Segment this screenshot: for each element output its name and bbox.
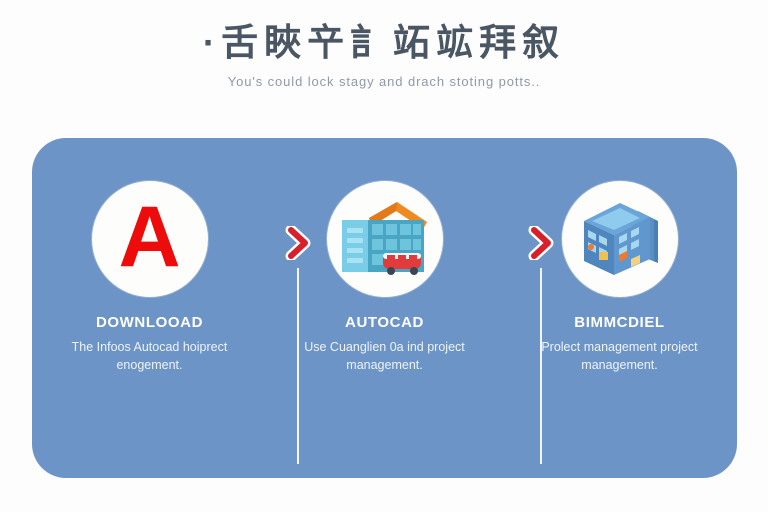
screenshot-canvas: ·舌䀹䇂訁䇉䇊拜叙 You's could lock stagy and dra… (0, 0, 768, 512)
building-factory-icon (339, 196, 431, 282)
page-title: ·舌䀹䇂訁䇉䇊拜叙 (0, 22, 768, 65)
step-label-2: AUTOCAD (345, 314, 424, 331)
bim-isometric-building-icon (574, 197, 666, 281)
step-icon-circle-3 (562, 181, 678, 297)
autocad-a-logo-icon: A (118, 194, 180, 280)
step-label-1: DOWNLOOAD (96, 314, 203, 331)
header: ·舌䀹䇂訁䇉䇊拜叙 You's could lock stagy and dra… (0, 22, 768, 89)
step-description-3: Prolect management project management. (530, 338, 710, 374)
steps-panel: A DOWNLOOAD The Infoos Autocad hoiprect … (32, 138, 737, 478)
step-icon-circle-1: A (92, 181, 208, 297)
step-icon-circle-2 (327, 181, 443, 297)
step-bim-model[interactable]: BIMMCDIEL Prolect management project man… (502, 138, 737, 374)
steps-row: A DOWNLOOAD The Infoos Autocad hoiprect … (32, 138, 737, 478)
step-label-3: BIMMCDIEL (574, 314, 664, 331)
step-description-1: The Infoos Autocad hoiprect enogement. (60, 338, 240, 374)
step-description-2: Use Cuanglien 0a ind project management. (295, 338, 475, 374)
step-autocad[interactable]: AUTOCAD Use Cuanglien 0a ind project man… (267, 138, 502, 374)
step-download[interactable]: A DOWNLOOAD The Infoos Autocad hoiprect … (32, 138, 267, 374)
page-subtitle: You's could lock stagy and drach stoting… (0, 74, 768, 89)
